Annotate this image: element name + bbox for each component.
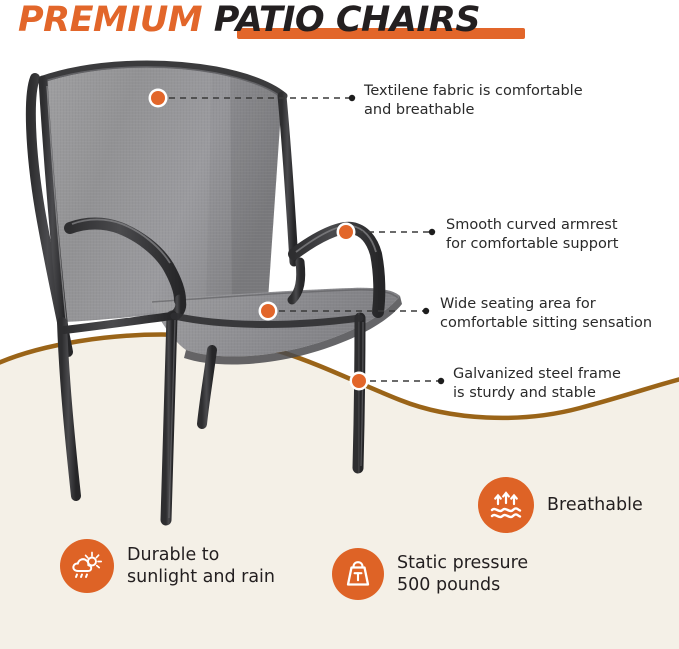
callout-armrest-line1: Smooth curved armrest bbox=[446, 217, 618, 233]
callout-frame: Galvanized steel frame is sturdy and sta… bbox=[453, 365, 621, 403]
badge-breathable: Breathable bbox=[478, 477, 643, 533]
page-title: PREMIUM PATIO CHAIRS bbox=[18, 0, 658, 50]
badge-durable: Durable to sunlight and rain bbox=[60, 539, 275, 593]
badge-static-pressure: Static pressure 500 pounds bbox=[332, 548, 528, 600]
callout-frame-line1: Galvanized steel frame bbox=[453, 366, 621, 382]
badge-durable-line2: sunlight and rain bbox=[127, 566, 275, 588]
badge-static-circle bbox=[332, 548, 384, 600]
badge-breathable-line1: Breathable bbox=[547, 495, 643, 515]
callout-armrest: Smooth curved armrest for comfortable su… bbox=[446, 216, 618, 254]
badge-breathable-circle bbox=[478, 477, 534, 533]
badge-breathable-label: Breathable bbox=[547, 494, 643, 516]
badge-durable-line1: Durable to bbox=[127, 545, 219, 565]
title-text: PREMIUM PATIO CHAIRS bbox=[18, 0, 480, 42]
badge-static-line1: Static pressure bbox=[397, 553, 528, 573]
callout-seating-line1: Wide seating area for bbox=[440, 296, 596, 312]
title-word-premium: PREMIUM bbox=[18, 0, 202, 40]
product-infographic: PREMIUM PATIO CHAIRS Textilene fabric is… bbox=[0, 0, 679, 649]
weight-icon bbox=[342, 558, 374, 590]
breathable-icon bbox=[489, 489, 523, 521]
callout-seating: Wide seating area for comfortable sittin… bbox=[440, 295, 652, 333]
callout-textilene: Textilene fabric is comfortable and brea… bbox=[364, 82, 583, 120]
callout-frame-line2: is sturdy and stable bbox=[453, 384, 621, 403]
sun-cloud-rain-icon bbox=[70, 550, 104, 582]
callout-armrest-line2: for comfortable support bbox=[446, 235, 618, 254]
badge-static-line2: 500 pounds bbox=[397, 574, 528, 596]
callout-textilene-line1: Textilene fabric is comfortable bbox=[364, 83, 583, 99]
badge-durable-circle bbox=[60, 539, 114, 593]
title-word-rest: PATIO CHAIRS bbox=[202, 0, 480, 40]
callout-textilene-line2: and breathable bbox=[364, 101, 583, 120]
badge-static-label: Static pressure 500 pounds bbox=[397, 552, 528, 596]
callout-seating-line2: comfortable sitting sensation bbox=[440, 314, 652, 333]
badge-durable-label: Durable to sunlight and rain bbox=[127, 544, 275, 588]
